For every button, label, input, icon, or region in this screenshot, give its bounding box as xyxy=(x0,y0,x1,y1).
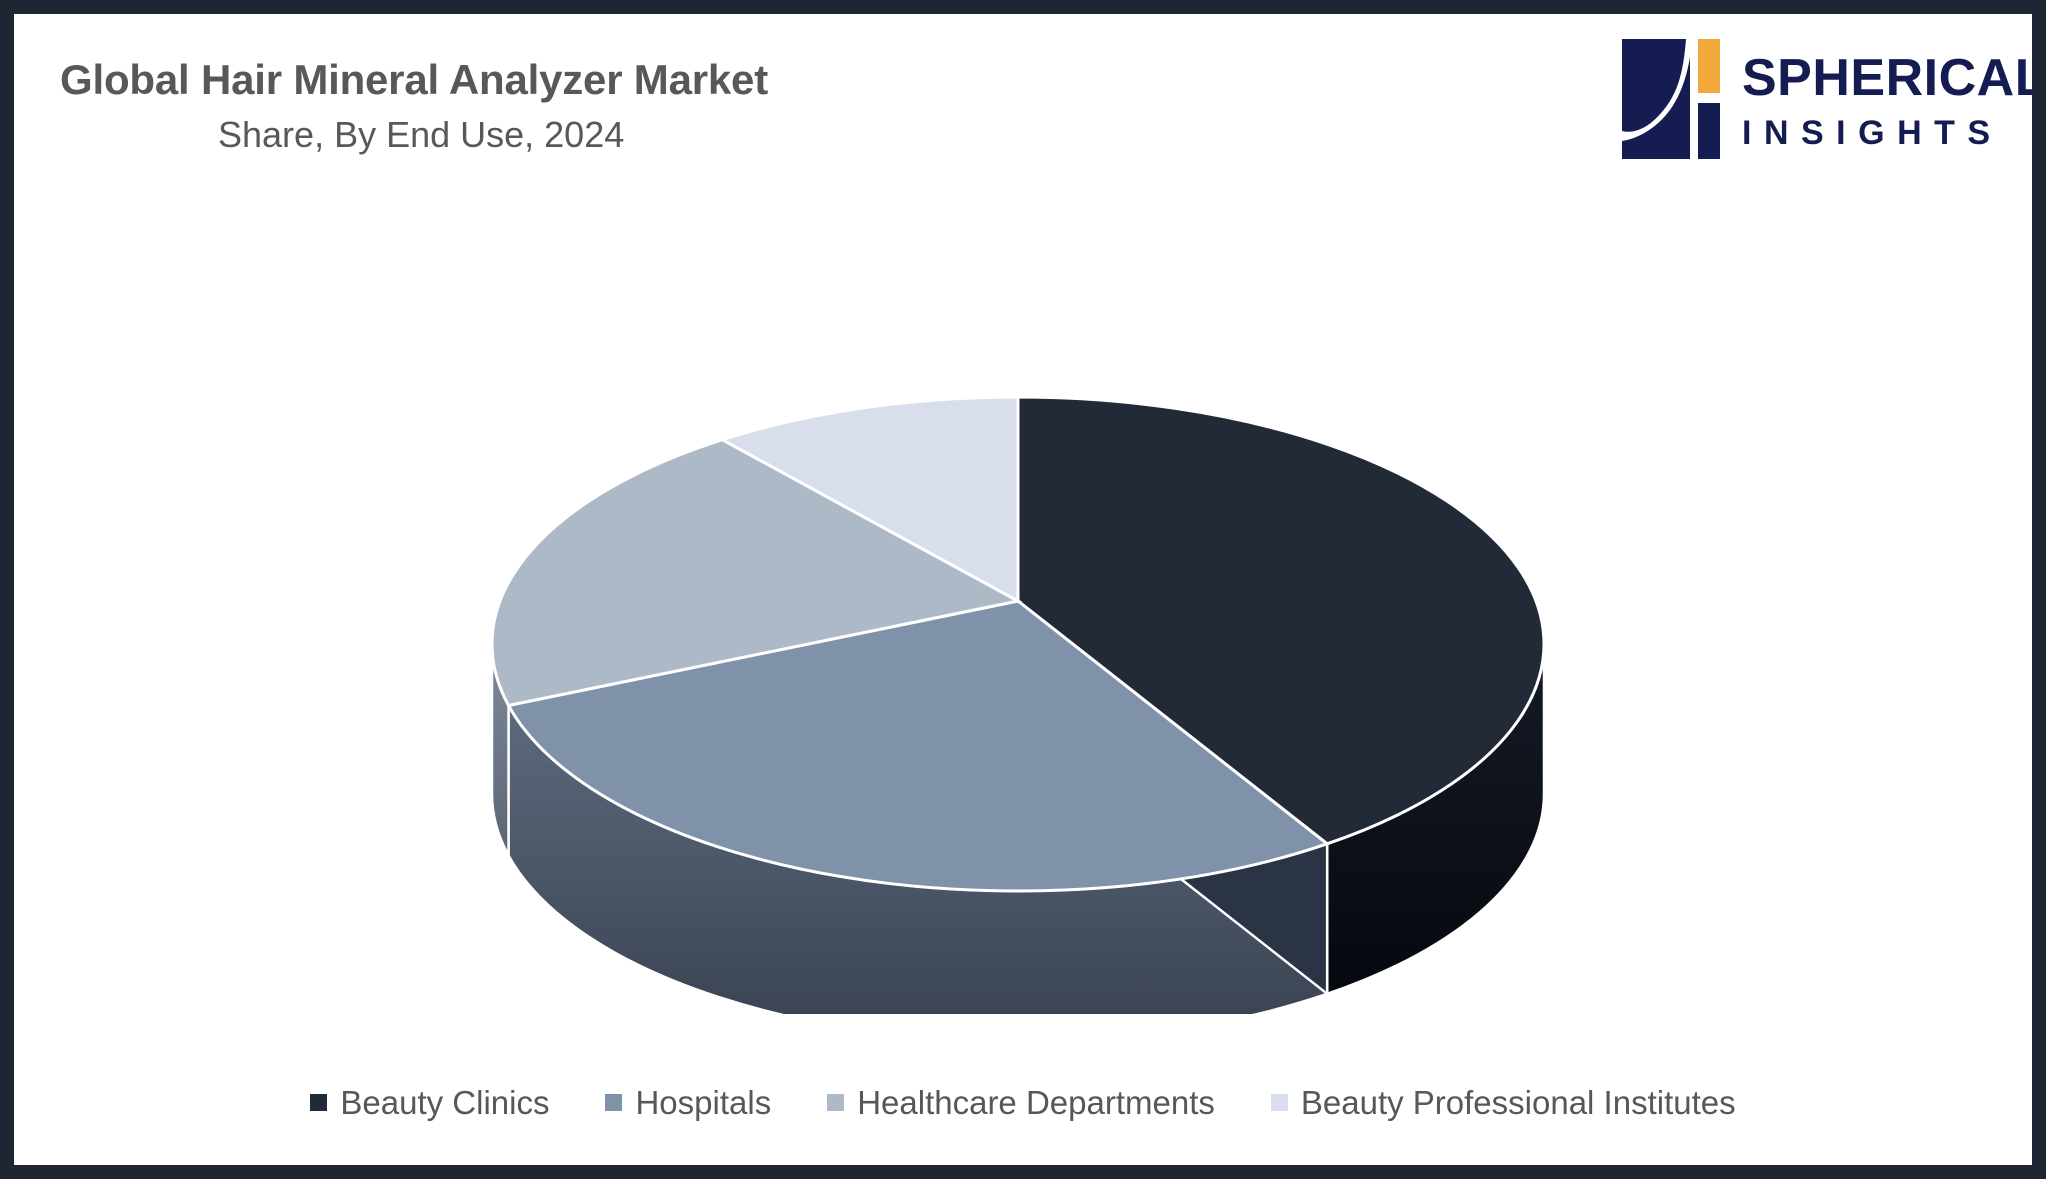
legend-item-healthcare-departments[interactable]: Healthcare Departments xyxy=(827,1086,1215,1119)
page-subtitle: Share, By End Use, 2024 xyxy=(60,114,1240,155)
pie-slices-group: Beauty Clinics: 40%Hospitals: 31%Healthc… xyxy=(492,397,1544,1014)
legend-swatch-icon xyxy=(310,1094,327,1111)
legend-item-hospitals[interactable]: Hospitals xyxy=(605,1086,771,1119)
legend-label: Healthcare Departments xyxy=(857,1086,1215,1119)
chart-legend: Beauty Clinics Hospitals Healthcare Depa… xyxy=(14,1086,2032,1119)
logo-word-insights: INSIGHTS xyxy=(1742,116,2032,150)
pie-chart-svg: Beauty Clinics: 40%Hospitals: 31%Healthc… xyxy=(14,164,2032,1014)
spherical-insights-mark-icon xyxy=(1620,35,1728,163)
legend-item-beauty-professional-institutes[interactable]: Beauty Professional Institutes xyxy=(1271,1086,1736,1119)
legend-swatch-icon xyxy=(827,1094,844,1111)
pie-chart: Beauty Clinics: 40%Hospitals: 31%Healthc… xyxy=(14,164,2032,1014)
legend-swatch-icon xyxy=(1271,1094,1288,1111)
brand-logo: SPHERICAL INSIGHTS xyxy=(1620,28,2020,170)
chart-canvas: Global Hair Mineral Analyzer Market Shar… xyxy=(14,14,2032,1165)
chart-frame: Global Hair Mineral Analyzer Market Shar… xyxy=(0,0,2046,1179)
legend-swatch-icon xyxy=(605,1094,622,1111)
legend-item-beauty-clinics[interactable]: Beauty Clinics xyxy=(310,1086,549,1119)
chart-header: Global Hair Mineral Analyzer Market Shar… xyxy=(60,56,1240,156)
page-title: Global Hair Mineral Analyzer Market xyxy=(60,56,1240,104)
logo-wordmark: SPHERICAL INSIGHTS xyxy=(1742,35,2032,163)
logo-word-spherical: SPHERICAL xyxy=(1742,52,2032,104)
legend-label: Hospitals xyxy=(635,1086,771,1119)
legend-label: Beauty Professional Institutes xyxy=(1301,1086,1736,1119)
legend-label: Beauty Clinics xyxy=(340,1086,549,1119)
